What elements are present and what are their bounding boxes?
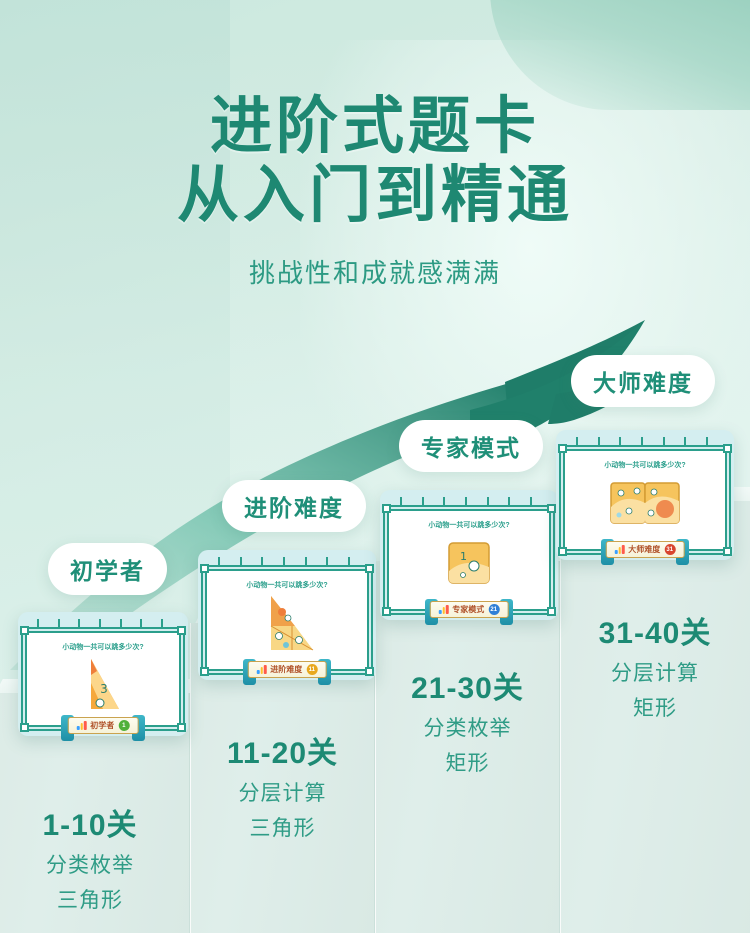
- difficulty-pill-3[interactable]: 专家模式: [399, 420, 543, 472]
- page-title: 进阶式题卡 从入门到精通: [0, 92, 750, 231]
- crenel-tooth-icon: [120, 619, 128, 629]
- card-ribbon-2: 进阶难度 11: [248, 661, 327, 678]
- question-card-1[interactable]: 小动物一共可以跳多少次? 3 初学者 1: [18, 612, 188, 736]
- question-card-2[interactable]: 小动物一共可以跳多少次? 进阶难度: [198, 550, 376, 680]
- card-question-text-3: 小动物一共可以跳多少次?: [389, 511, 549, 530]
- card-crenellation-1: [25, 619, 181, 630]
- step-label-4: 31-40关 分层计算 矩形: [560, 608, 750, 722]
- difficulty-pill-4[interactable]: 大师难度: [571, 355, 715, 407]
- ribbon-level-badge-2: 11: [306, 664, 317, 675]
- card-artwork-1: 3: [27, 652, 179, 714]
- crenel-tooth-icon: [465, 497, 473, 507]
- card-crenellation-4: [563, 437, 727, 448]
- ribbon-label-4: 大师难度: [628, 544, 660, 555]
- crenel-tooth-icon: [422, 497, 430, 507]
- card-question-text-4: 小动物一共可以跳多少次?: [565, 451, 725, 470]
- step-level-range-1: 1-10关: [0, 800, 190, 844]
- step-label-2: 11-20关 分层计算 三角形: [190, 728, 375, 842]
- crenel-tooth-icon: [161, 619, 169, 629]
- crenel-tooth-icon: [619, 437, 627, 447]
- step-level-range-2: 11-20关: [190, 728, 375, 772]
- crenel-tooth-icon: [641, 437, 649, 447]
- ribbon-level-badge-3: 21: [488, 604, 499, 615]
- question-card-4[interactable]: 小动物一共可以跳多少次?: [556, 430, 734, 560]
- card-artwork-2: [207, 590, 367, 656]
- crenel-tooth-icon: [443, 497, 451, 507]
- crenel-tooth-icon: [530, 497, 538, 507]
- crenel-tooth-icon: [37, 619, 45, 629]
- corner-ornament-icon: [547, 504, 556, 513]
- corner-ornament-icon: [177, 626, 186, 635]
- ribbon-label-3: 专家模式: [452, 604, 484, 615]
- crenel-tooth-icon: [598, 437, 606, 447]
- corner-ornament-icon: [20, 723, 29, 732]
- crenel-tooth-icon: [663, 437, 671, 447]
- page-subtitle: 挑战性和成就感满满: [0, 253, 750, 290]
- step-shape-2: 三角形: [190, 812, 375, 842]
- crenel-tooth-icon: [261, 557, 269, 567]
- svg-text:3: 3: [100, 682, 108, 696]
- crenel-tooth-icon: [487, 497, 495, 507]
- crenel-tooth-icon: [706, 437, 714, 447]
- card-ribbon-3: 专家模式 21: [430, 601, 509, 618]
- crenel-tooth-icon: [508, 497, 516, 507]
- crenel-tooth-icon: [218, 557, 226, 567]
- corner-ornament-icon: [723, 444, 732, 453]
- crenel-tooth-icon: [305, 557, 313, 567]
- crenel-tooth-icon: [99, 619, 107, 629]
- difficulty-bars-icon: [257, 665, 267, 674]
- card-ribbon-1: 初学者 1: [68, 717, 139, 734]
- crenel-tooth-icon: [140, 619, 148, 629]
- question-card-3[interactable]: 小动物一共可以跳多少次? 1 专家模式 21: [380, 490, 558, 620]
- corner-ornament-icon: [547, 607, 556, 616]
- card-question-text-1: 小动物一共可以跳多少次?: [27, 633, 179, 652]
- corner-ornament-icon: [723, 547, 732, 556]
- step-shape-3: 矩形: [375, 747, 560, 777]
- corner-ornament-icon: [365, 667, 374, 676]
- card-inner-4: 小动物一共可以跳多少次?: [563, 449, 727, 551]
- step-skill-3: 分类枚举: [375, 712, 560, 742]
- step-skill-2: 分层计算: [190, 777, 375, 807]
- step-shape-1: 三角形: [0, 884, 190, 914]
- step-skill-4: 分层计算: [560, 657, 750, 687]
- crenel-tooth-icon: [576, 437, 584, 447]
- corner-ornament-icon: [558, 547, 567, 556]
- difficulty-pill-1[interactable]: 初学者: [48, 543, 167, 595]
- corner-ornament-icon: [382, 607, 391, 616]
- card-artwork-3: 1: [389, 530, 549, 596]
- difficulty-bars-icon: [439, 605, 449, 614]
- crenel-tooth-icon: [283, 557, 291, 567]
- ribbon-label-1: 初学者: [90, 720, 114, 731]
- card-inner-2: 小动物一共可以跳多少次? 进阶难度: [205, 569, 369, 671]
- card-inner-3: 小动物一共可以跳多少次? 1 专家模式 21: [387, 509, 551, 611]
- banner-header: 进阶式题卡 从入门到精通 挑战性和成就感满满: [0, 0, 750, 290]
- step-level-range-4: 31-40关: [560, 608, 750, 652]
- crenel-tooth-icon: [684, 437, 692, 447]
- corner-ornament-icon: [365, 564, 374, 573]
- corner-ornament-icon: [200, 667, 209, 676]
- crenel-tooth-icon: [348, 557, 356, 567]
- ribbon-level-badge-1: 1: [118, 720, 129, 731]
- card-question-text-2: 小动物一共可以跳多少次?: [207, 571, 367, 590]
- title-line-2: 从入门到精通: [0, 161, 750, 230]
- card-artwork-4: [565, 470, 725, 536]
- svg-text:1: 1: [460, 550, 467, 563]
- corner-ornament-icon: [177, 723, 186, 732]
- crenel-tooth-icon: [326, 557, 334, 567]
- crenel-tooth-icon: [240, 557, 248, 567]
- title-line-1: 进阶式题卡: [210, 92, 540, 161]
- crenel-tooth-icon: [78, 619, 86, 629]
- difficulty-pill-2[interactable]: 进阶难度: [222, 480, 366, 532]
- corner-ornament-icon: [20, 626, 29, 635]
- card-inner-1: 小动物一共可以跳多少次? 3 初学者 1: [25, 631, 181, 727]
- difficulty-bars-icon: [615, 545, 625, 554]
- crenel-tooth-icon: [58, 619, 66, 629]
- corner-ornament-icon: [382, 504, 391, 513]
- step-shape-4: 矩形: [560, 692, 750, 722]
- corner-ornament-icon: [558, 444, 567, 453]
- step-skill-1: 分类枚举: [0, 849, 190, 879]
- step-level-range-3: 21-30关: [375, 663, 560, 707]
- difficulty-bars-icon: [77, 721, 87, 730]
- step-label-3: 21-30关 分类枚举 矩形: [375, 663, 560, 777]
- step-label-1: 1-10关 分类枚举 三角形: [0, 800, 190, 914]
- ribbon-label-2: 进阶难度: [270, 664, 302, 675]
- promo-banner: 进阶式题卡 从入门到精通 挑战性和成就感满满: [0, 0, 750, 933]
- crenel-tooth-icon: [400, 497, 408, 507]
- card-crenellation-2: [205, 557, 369, 568]
- corner-ornament-icon: [200, 564, 209, 573]
- card-ribbon-4: 大师难度 31: [606, 541, 685, 558]
- card-crenellation-3: [387, 497, 551, 508]
- ribbon-level-badge-4: 31: [664, 544, 675, 555]
